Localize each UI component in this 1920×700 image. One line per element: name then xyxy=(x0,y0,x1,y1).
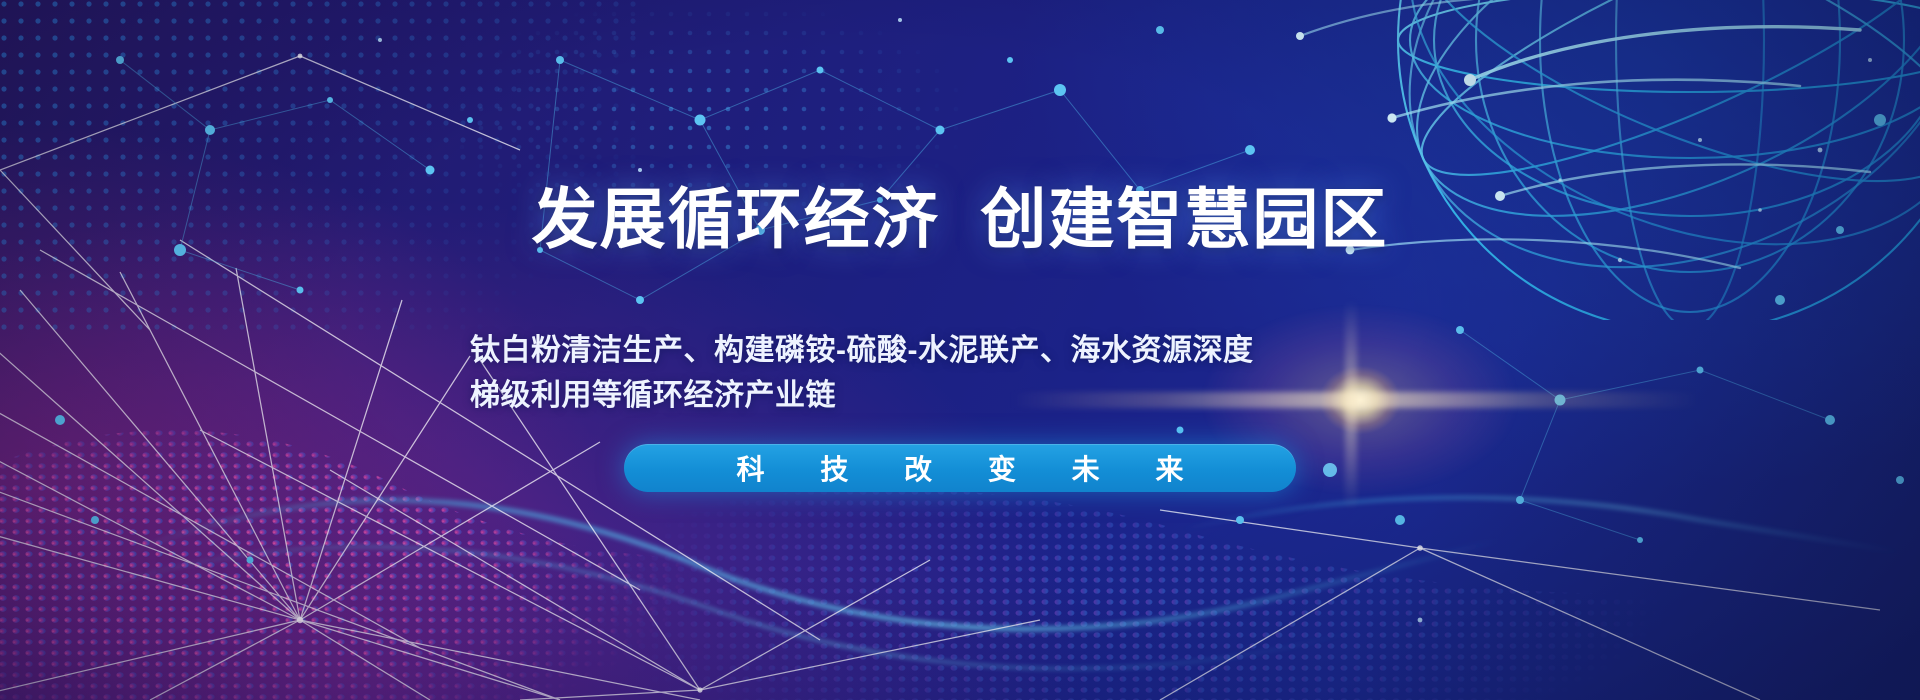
banner-subtitle: 钛白粉清洁生产、构建磷铵-硫酸-水泥联产、海水资源深度 梯级利用等循环经济产业链 xyxy=(470,328,1450,418)
hero-banner: 发展循环经济 创建智慧园区 钛白粉清洁生产、构建磷铵-硫酸-水泥联产、海水资源深… xyxy=(0,0,1920,700)
cta-button[interactable]: 科 技 改 变 未 来 xyxy=(624,444,1296,492)
cta-button-label: 科 技 改 变 未 来 xyxy=(713,448,1208,488)
subtitle-line-1: 钛白粉清洁生产、构建磷铵-硫酸-水泥联产、海水资源深度 xyxy=(470,328,1450,373)
banner-headline: 发展循环经济 创建智慧园区 xyxy=(532,186,1389,252)
subtitle-line-2: 梯级利用等循环经济产业链 xyxy=(470,373,1450,418)
banner-content: 发展循环经济 创建智慧园区 钛白粉清洁生产、构建磷铵-硫酸-水泥联产、海水资源深… xyxy=(0,0,1920,700)
